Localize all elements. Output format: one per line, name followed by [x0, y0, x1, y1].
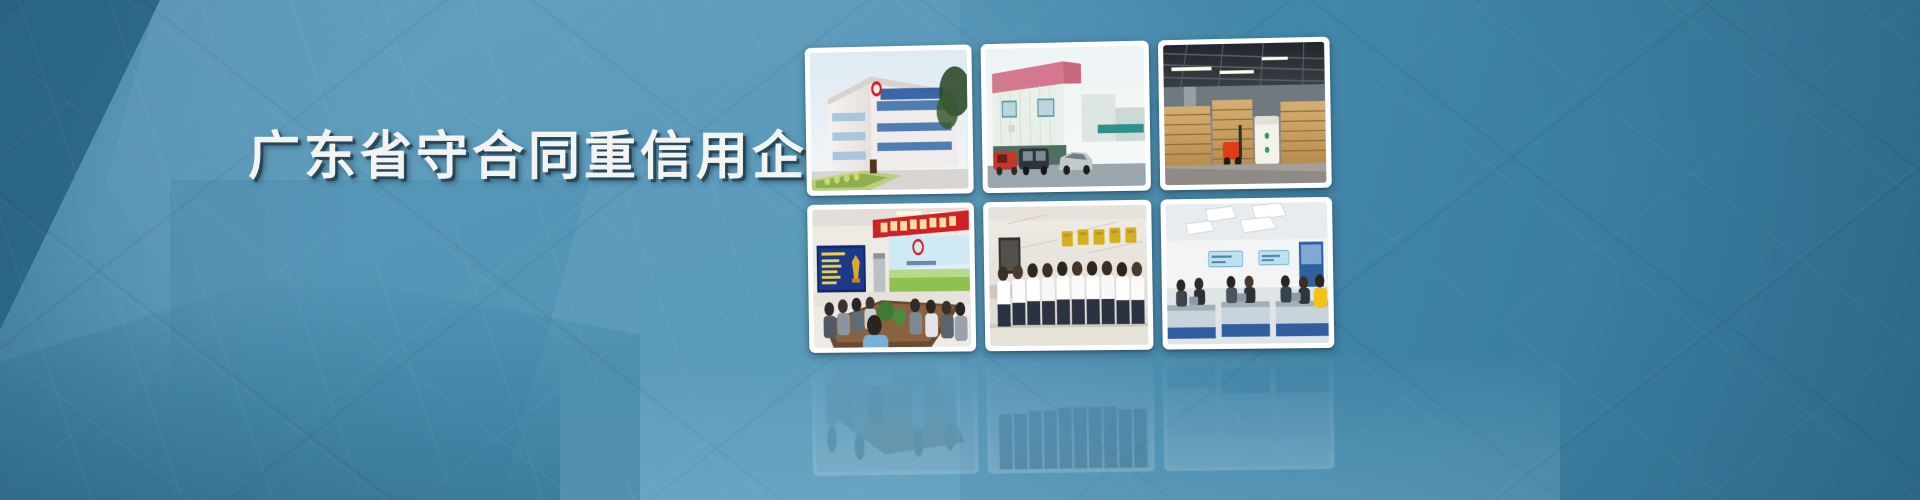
photo-team-photo[interactable]	[983, 200, 1154, 352]
company-photo-grid	[805, 37, 1335, 353]
promo-banner: 广东省守合同重信用企业	[0, 0, 1920, 500]
photo-training-meeting-image	[812, 208, 971, 348]
photo-office-workspace[interactable]	[1161, 197, 1335, 350]
photo-raw-material-warehouse[interactable]	[1158, 37, 1332, 191]
photo-warehouse-exterior-image	[985, 46, 1146, 188]
photo-team-photo-image	[988, 205, 1149, 346]
photo-office-workspace-image	[1166, 202, 1329, 344]
headline-container: 广东省守合同重信用企业	[248, 116, 808, 186]
photo-training-meeting[interactable]	[807, 202, 976, 353]
photo-factory-exterior[interactable]	[805, 44, 974, 196]
photo-raw-material-warehouse-image	[1163, 42, 1326, 185]
photo-factory-exterior-image	[810, 50, 969, 191]
photo-warehouse-exterior[interactable]	[980, 41, 1151, 194]
banner-headline: 广东省守合同重信用企业	[248, 114, 864, 189]
